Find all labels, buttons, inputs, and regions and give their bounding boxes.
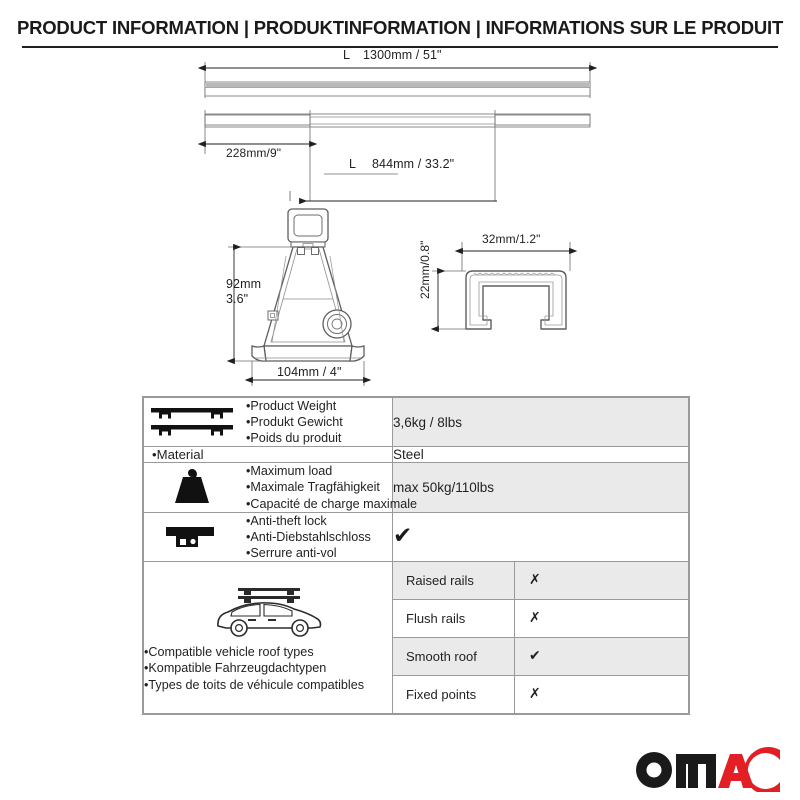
dim-overall-length-prefix: L xyxy=(343,48,350,62)
compat-row-raised-rails: Raised rails ✗ xyxy=(393,562,688,600)
label-line: •Kompatible Fahrzeugdachtypen xyxy=(144,660,392,676)
checkmark-icon: ✔ xyxy=(393,523,412,549)
spec-label-cell-maximum-load: •Maximum load •Maximale Tragfähigkeit •C… xyxy=(144,463,393,512)
roof-compatibility-matrix: Raised rails ✗ Flush rails ✗ xyxy=(393,561,689,713)
spec-labels-anti-theft-lock: •Anti-theft lock •Anti-Diebstahlschloss … xyxy=(246,513,371,561)
compat-name-raised-rails: Raised rails xyxy=(393,562,515,600)
spec-value-maximum-load: max 50kg/110lbs xyxy=(393,463,689,512)
dim-foot-height-value: 92mm xyxy=(226,277,261,291)
label-line: •Anti-theft lock xyxy=(246,513,371,529)
omac-logo-mark xyxy=(630,746,782,792)
dim-foot-height-inch-value: 3.6" xyxy=(226,292,248,306)
compat-mark-smooth-roof: ✔ xyxy=(515,637,689,675)
dim-span-length-prefix: L xyxy=(349,157,356,171)
dim-end-offset-value: 228mm/9" xyxy=(226,146,281,160)
cross-icon: ✗ xyxy=(529,686,541,702)
spec-labels-maximum-load: •Maximum load •Maximale Tragfähigkeit •C… xyxy=(246,463,417,511)
spec-value-material: Steel xyxy=(393,447,689,463)
spec-label-cell-material: •Material xyxy=(144,447,393,463)
spec-value-anti-theft-lock: ✔ xyxy=(393,512,689,561)
cross-icon: ✗ xyxy=(529,610,541,626)
table-row: •Anti-theft lock •Anti-Diebstahlschloss … xyxy=(144,512,689,561)
compat-row-fixed-points: Fixed points ✗ xyxy=(393,675,688,713)
checkmark-icon: ✔ xyxy=(529,648,541,664)
label-line: •Types de toits de véhicule compatibles xyxy=(144,677,392,693)
specification-table: •Product Weight •Produkt Gewicht •Poids … xyxy=(142,396,690,715)
label-line: •Produkt Gewicht xyxy=(246,414,343,430)
compat-name-flush-rails: Flush rails xyxy=(393,599,515,637)
dim-profile-height-value: 22mm/0.8" xyxy=(418,240,432,299)
cross-icon: ✗ xyxy=(529,572,541,588)
spec-labels-material: •Material xyxy=(144,447,392,462)
table-row: •Compatible vehicle roof types •Kompatib… xyxy=(144,561,689,713)
compat-mark-fixed-points: ✗ xyxy=(515,675,689,713)
weight-icon xyxy=(144,468,240,506)
label-line: •Maximale Tragfähigkeit xyxy=(246,479,417,495)
technical-drawing: L 1300mm / 51" 228mm/9" L 844mm / 33.2" … xyxy=(0,46,800,391)
dim-overall-length-value: 1300mm / 51" xyxy=(363,48,442,62)
spec-label-cell-roof-compatibility: •Compatible vehicle roof types •Kompatib… xyxy=(144,561,393,713)
spec-labels-roof-compatibility: •Compatible vehicle roof types •Kompatib… xyxy=(144,644,392,693)
dim-foot-width-value: 104mm / 4" xyxy=(277,365,342,379)
compat-name-smooth-roof: Smooth roof xyxy=(393,637,515,675)
lock-icon xyxy=(144,521,240,553)
compat-row-smooth-roof: Smooth roof ✔ xyxy=(393,637,688,675)
label-line: •Capacité de charge maximale xyxy=(246,496,417,512)
label-line: •Material xyxy=(152,447,392,462)
omac-logo xyxy=(630,746,782,792)
compat-row-flush-rails: Flush rails ✗ xyxy=(393,599,688,637)
spec-value-product-weight: 3,6kg / 8lbs xyxy=(393,398,689,447)
label-line: •Maximum load xyxy=(246,463,417,479)
dim-profile-width-value: 32mm/1.2" xyxy=(482,232,541,246)
spec-labels-product-weight: •Product Weight •Produkt Gewicht •Poids … xyxy=(246,398,343,446)
label-line: •Poids du produit xyxy=(246,430,343,446)
drawing-vector xyxy=(0,46,800,391)
table-row: •Material Steel xyxy=(144,447,689,463)
compat-mark-flush-rails: ✗ xyxy=(515,599,689,637)
page-title: PRODUCT INFORMATION | PRODUKTINFORMATION… xyxy=(17,17,783,39)
spec-label-cell-product-weight: •Product Weight •Produkt Gewicht •Poids … xyxy=(144,398,393,447)
crossbars-icon xyxy=(144,405,240,439)
label-line: •Product Weight xyxy=(246,398,343,414)
spec-label-cell-anti-theft-lock: •Anti-theft lock •Anti-Diebstahlschloss … xyxy=(144,512,393,561)
table-row: •Product Weight •Produkt Gewicht •Poids … xyxy=(144,398,689,447)
label-line: •Serrure anti-vol xyxy=(246,545,371,561)
label-line: •Compatible vehicle roof types xyxy=(144,644,392,660)
compat-name-fixed-points: Fixed points xyxy=(393,675,515,713)
dim-span-length-value: 844mm / 33.2" xyxy=(372,157,454,171)
car-with-rack-icon xyxy=(144,582,392,642)
compat-mark-raised-rails: ✗ xyxy=(515,562,689,600)
label-line: •Anti-Diebstahlschloss xyxy=(246,529,371,545)
page-header: PRODUCT INFORMATION | PRODUKTINFORMATION… xyxy=(22,10,778,48)
table-row: •Maximum load •Maximale Tragfähigkeit •C… xyxy=(144,463,689,512)
